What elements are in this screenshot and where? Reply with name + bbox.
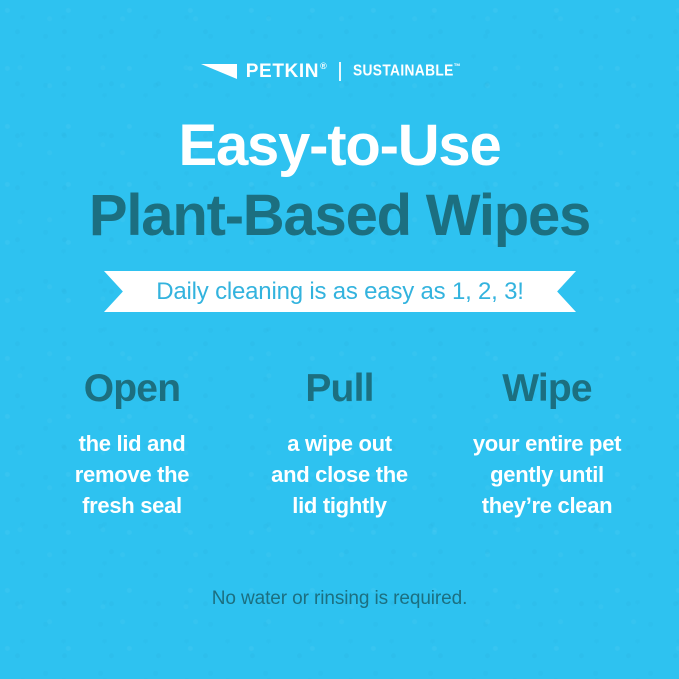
infographic-canvas: PETKIN® SUSTAINABLE™ Easy-to-Use Plant-B… (0, 0, 679, 679)
step-wipe: Wipe your entire pet gently until they’r… (449, 368, 645, 521)
tagline-ribbon: Daily cleaning is as easy as 1, 2, 3! (104, 271, 576, 312)
footer-note: No water or rinsing is required. (0, 589, 679, 608)
brand-name-text: PETKIN (246, 61, 319, 82)
headline-line-2: Plant-Based Wipes (0, 186, 679, 247)
step-open: Open the lid and remove the fresh seal (34, 368, 230, 521)
step-open-line-3: fresh seal (34, 490, 230, 521)
headline-line-1: Easy-to-Use (0, 116, 679, 177)
tagline-text: Daily cleaning is as easy as 1, 2, 3! (156, 280, 523, 304)
step-pull-body: a wipe out and close the lid tightly (242, 428, 438, 521)
brand-sublabel: SUSTAINABLE™ (353, 63, 461, 79)
step-open-title: Open (34, 368, 230, 410)
step-wipe-line-2: gently until (449, 459, 645, 490)
step-pull-title: Pull (242, 368, 438, 410)
steps-row: Open the lid and remove the fresh seal P… (34, 368, 645, 521)
step-pull-line-1: a wipe out (242, 428, 438, 459)
step-wipe-line-3: they’re clean (449, 490, 645, 521)
step-open-body: the lid and remove the fresh seal (34, 428, 230, 521)
logo-divider (339, 62, 341, 81)
step-wipe-line-1: your entire pet (449, 428, 645, 459)
step-pull-line-3: lid tightly (242, 490, 438, 521)
brand-sublabel-text: SUSTAINABLE (353, 62, 454, 79)
step-pull: Pull a wipe out and close the lid tightl… (242, 368, 438, 521)
step-open-line-2: remove the (34, 459, 230, 490)
step-pull-line-2: and close the (242, 459, 438, 490)
step-wipe-title: Wipe (449, 368, 645, 410)
step-wipe-body: your entire pet gently until they’re cle… (449, 428, 645, 521)
registered-mark-icon: ® (320, 61, 327, 71)
trademark-mark-icon: ™ (453, 62, 460, 71)
petkin-wedge-icon (201, 64, 237, 79)
brand-logo-row: PETKIN® SUSTAINABLE™ (0, 58, 679, 84)
step-open-line-1: the lid and (34, 428, 230, 459)
brand-name: PETKIN® (246, 62, 328, 81)
